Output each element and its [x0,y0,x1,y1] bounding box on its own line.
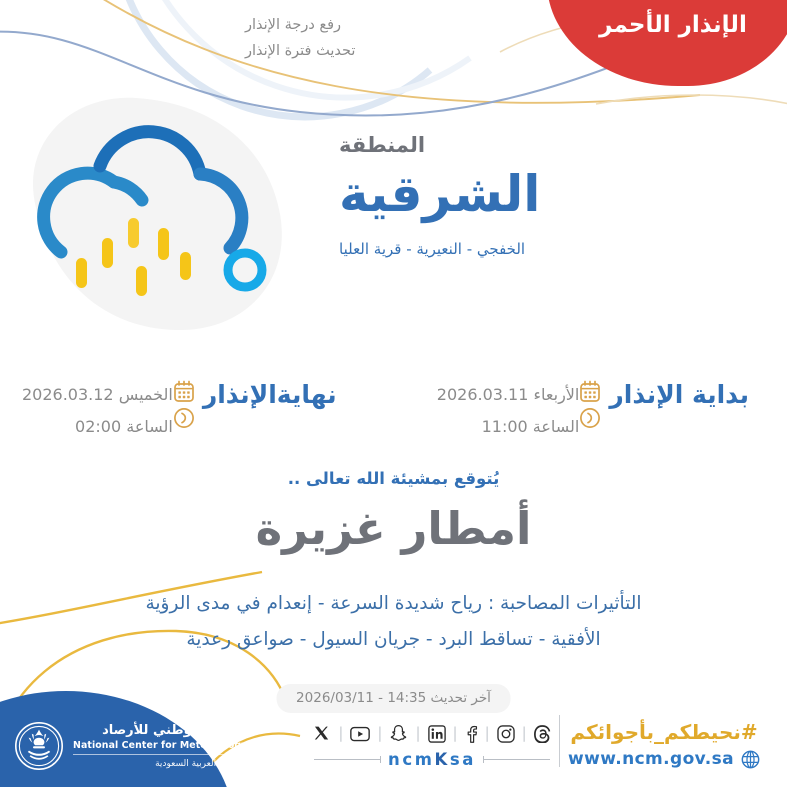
calendar-icon [173,380,195,403]
region-kicker: المنطقة [339,130,759,160]
snapchat-icon[interactable] [389,724,408,743]
calendar-icon [579,380,601,403]
forecast-block: يُتوقع بمشيئة الله تعالى .. أمطار غزيرة [0,466,787,560]
note-line-2: تحديث فترة الإنذار [245,38,545,64]
note-line-1: رفع درجة الإنذار [245,12,545,38]
alert-end-block: نهايةالإنذار الخميس 20 [22,378,347,448]
last-update-badge: آخر تحديث 2026/03/11 - 14:35 [276,684,511,713]
alert-start-time-line: الساعة 11:00 [437,413,580,441]
saudi-emblem-icon [14,721,64,771]
social-separator: | [338,726,343,741]
clock-icon [579,407,601,429]
alert-start-values: الأربعاء 2026.03.11 الساعة 11:00 [437,378,580,441]
social-separator: | [522,726,527,741]
impacts-line-1: التأثيرات المصاحبة : رياح شديدة السرعة -… [0,586,787,622]
impacts-line-2: الأفقية - تساقط البرد - جريان السيول - ص… [0,622,787,658]
ncm-logo: المركز الوطني للأرصاد National Center fo… [14,717,226,775]
handle-cap: K [435,750,450,769]
alert-start-day: الأربعاء [534,385,580,404]
social-separator: | [485,726,490,741]
region-block: المنطقة الشرقية الخفجي - النعيرية - قرية… [339,130,759,262]
alert-end-time-label: الساعة [126,417,173,436]
social-block: | | | | | [314,724,550,769]
alert-end-values: الخميس 2026.03.12 الساعة 02:00 [22,378,173,441]
handle-suffix: sa [450,750,476,769]
alert-start-date-line: الأربعاء 2026.03.11 [437,381,580,409]
social-icons-row: | | | | | [313,724,550,743]
region-name: الشرقية [339,162,759,226]
ncm-country: المملكة العربية السعودية [73,758,247,770]
social-handle: ncmKsa [388,750,476,769]
alert-end-time-line: الساعة 02:00 [22,413,173,441]
alert-end-title: نهايةالإنذار [203,378,337,412]
social-separator: | [453,726,458,741]
handle-rule-right [483,759,550,760]
last-update-datetime: 2026/03/11 - 14:35 [296,689,426,707]
alert-level-label: الإنذار الأحمر [562,12,784,38]
threads-icon[interactable] [534,725,551,743]
social-handle-row: ncmKsa [314,750,550,769]
alert-end-time: 02:00 [75,413,121,441]
alert-end-day: الخميس [119,385,173,404]
alert-start-block: بداية الإنذار الأربعاء [437,378,759,448]
alert-start-icons [579,378,601,429]
globe-icon [741,750,760,769]
clock-icon [173,407,195,429]
last-update-label: آخر تحديث [431,690,491,706]
handle-prefix: ncm [388,750,435,769]
alert-end-date: 2026.03.12 [22,381,114,409]
facebook-icon[interactable] [465,725,478,743]
weather-alert-poster: الإنذار الأحمر رفع درجة الإنذار تحديث فت… [0,0,787,787]
website-url[interactable]: www.ncm.gov.sa [568,749,734,769]
social-separator: | [415,726,420,741]
social-separator: | [377,726,382,741]
heavy-rain-cloud-icon [18,96,318,336]
linkedin-icon[interactable] [428,725,446,743]
youtube-icon[interactable] [350,725,370,743]
forecast-kicker: يُتوقع بمشيئة الله تعالى .. [0,466,787,492]
impacts-block: التأثيرات المصاحبة : رياح شديدة السرعة -… [0,586,787,658]
footer-right-block: #نحيطكم_بأجوائكم www.ncm.gov.sa [555,718,773,769]
alert-update-notes: رفع درجة الإنذار تحديث فترة الإنذار [245,12,545,64]
website-row[interactable]: www.ncm.gov.sa [555,749,773,769]
alert-start-date: 2026.03.11 [437,381,529,409]
alert-start-time: 11:00 [482,413,528,441]
alert-start-time-label: الساعة [533,417,580,436]
x-twitter-icon[interactable] [313,725,331,743]
forecast-headline: أمطار غزيرة [0,498,787,560]
ncm-name-arabic: المركز الوطني للأرصاد [73,723,247,739]
region-subregions: الخفجي - النعيرية - قرية العليا [339,236,759,262]
ncm-logo-text: المركز الوطني للأرصاد National Center fo… [73,723,247,770]
campaign-hashtag: #نحيطكم_بأجوائكم [555,718,773,746]
alert-end-icons [173,378,195,429]
ncm-name-english: National Center for Meteorology [73,739,247,752]
handle-rule-left [314,759,381,760]
alert-end-date-line: الخميس 2026.03.12 [22,381,173,409]
alert-start-title: بداية الإنذار [609,378,749,412]
ncm-logo-divider [73,754,247,755]
instagram-icon[interactable] [497,725,515,743]
